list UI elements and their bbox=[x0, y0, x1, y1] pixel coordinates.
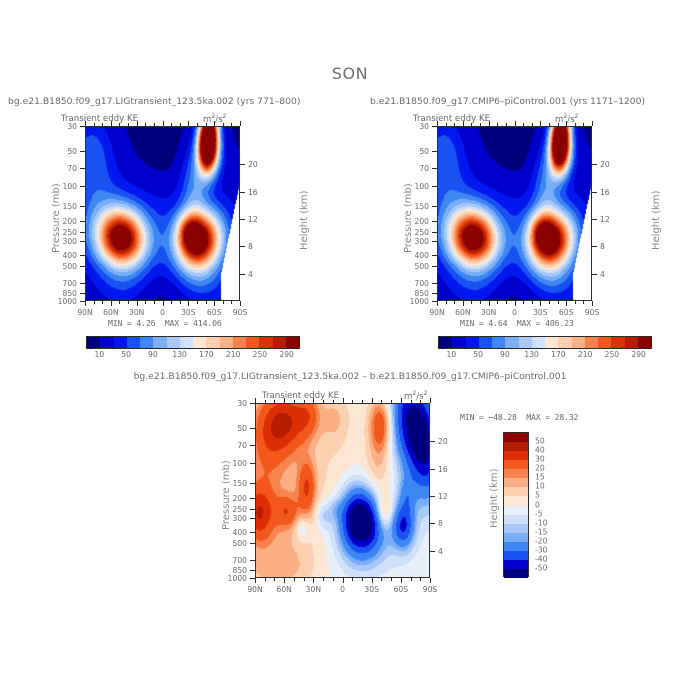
height-tick-label: 20 bbox=[600, 160, 610, 169]
pressure-tick-label: 70 bbox=[237, 441, 247, 450]
height-tick-label: 4 bbox=[600, 270, 605, 279]
left-min-value: 4.26 bbox=[136, 318, 155, 328]
latitude-minor-tick bbox=[532, 301, 533, 304]
diff-panel-y-axis-title: Pressure (mb) bbox=[221, 460, 232, 530]
height-tick-label: 4 bbox=[438, 547, 443, 556]
latitude-tick bbox=[111, 301, 112, 306]
height-tick-label: 16 bbox=[248, 188, 258, 197]
height-tick-label: 8 bbox=[248, 242, 253, 251]
colorbar-segment bbox=[246, 337, 259, 348]
right-panel-units: m2/s2 bbox=[555, 113, 578, 125]
colorbar-tick-label: 250 bbox=[253, 350, 268, 359]
colorbar-tick-label: 170 bbox=[551, 350, 566, 359]
latitude-tick-label: 0 bbox=[512, 308, 517, 317]
latitude-tick-label: 60S bbox=[394, 585, 408, 594]
pressure-tick bbox=[432, 301, 437, 302]
pressure-tick-label: 700 bbox=[415, 279, 430, 288]
right-max-label: MAX = bbox=[517, 318, 541, 328]
colorbar-segment bbox=[153, 337, 166, 348]
latitude-minor-tick bbox=[352, 578, 353, 581]
pressure-tick bbox=[250, 578, 255, 579]
latitude-tick-label: 90N bbox=[429, 308, 444, 317]
latitude-minor-tick bbox=[471, 301, 472, 304]
latitude-tick bbox=[137, 301, 138, 306]
colorbar-segment bbox=[598, 337, 611, 348]
colorbar-tick-label: -15 bbox=[535, 527, 547, 536]
right-panel-y-axis-title: Pressure (mb) bbox=[403, 183, 414, 253]
latitude-tick bbox=[313, 578, 314, 583]
diff-panel-case-title: bg.e21.B1850.f09_g17.LIGtransient_123.5k… bbox=[0, 371, 700, 382]
pressure-tick-label: 1000 bbox=[228, 574, 247, 583]
diff-panel-y2-axis-title: Height (km) bbox=[489, 468, 500, 528]
latitude-minor-tick bbox=[119, 301, 120, 304]
latitude-tick bbox=[284, 578, 285, 583]
pressure-tick-label: 150 bbox=[415, 202, 430, 211]
latitude-tick bbox=[592, 301, 593, 306]
units-denominator: /s bbox=[416, 392, 423, 402]
colorbar-segment bbox=[87, 337, 100, 348]
pressure-tick-label: 1000 bbox=[410, 297, 429, 306]
diff-panel-colorbar[interactable] bbox=[503, 432, 529, 577]
diff-min-value: −48.28 bbox=[488, 412, 516, 422]
pressure-tick-label: 400 bbox=[63, 251, 78, 260]
pressure-tick-label: 30 bbox=[237, 399, 247, 408]
colorbar-segment bbox=[504, 569, 528, 578]
height-tick-label: 12 bbox=[600, 215, 610, 224]
height-tick bbox=[430, 551, 435, 552]
pressure-tick-label: 50 bbox=[237, 424, 247, 433]
colorbar-segment bbox=[504, 542, 528, 551]
latitude-tick-label: 30N bbox=[306, 585, 321, 594]
latitude-minor-tick bbox=[145, 301, 146, 304]
colorbar-segment bbox=[233, 337, 246, 348]
latitude-tick bbox=[401, 578, 402, 583]
pressure-tick-label: 500 bbox=[63, 262, 78, 271]
latitude-minor-tick bbox=[454, 301, 455, 304]
colorbar-segment bbox=[504, 433, 528, 442]
colorbar-tick-label: 50 bbox=[121, 350, 131, 359]
height-tick-label: 8 bbox=[600, 242, 605, 251]
height-tick bbox=[240, 219, 245, 220]
right-min-label: MIN = bbox=[460, 318, 484, 328]
pressure-tick-label: 250 bbox=[63, 228, 78, 237]
colorbar-segment bbox=[504, 478, 528, 487]
season-title: SON bbox=[0, 64, 700, 83]
latitude-minor-tick bbox=[420, 578, 421, 581]
latitude-minor-tick bbox=[333, 578, 334, 581]
latitude-minor-tick bbox=[411, 578, 412, 581]
latitude-minor-tick bbox=[231, 301, 232, 304]
colorbar-tick-label: 40 bbox=[535, 446, 545, 455]
latitude-tick bbox=[430, 578, 431, 583]
right-panel-case-title: b.e21.B1850.f09_g17.CMIP6–piControl.001 … bbox=[370, 96, 645, 107]
latitude-tick-label: 90S bbox=[233, 308, 247, 317]
left-min-label: MIN = bbox=[108, 318, 132, 328]
pressure-tick-label: 1000 bbox=[58, 297, 77, 306]
colorbar-segment bbox=[127, 337, 140, 348]
latitude-tick bbox=[85, 301, 86, 306]
right-panel-colorbar[interactable] bbox=[438, 336, 652, 349]
colorbar-segment bbox=[558, 337, 571, 348]
latitude-tick-label: 60N bbox=[103, 308, 118, 317]
colorbar-segment bbox=[545, 337, 558, 348]
height-tick bbox=[592, 246, 597, 247]
colorbar-tick-label: 50 bbox=[473, 350, 483, 359]
right-panel-y2-axis-title: Height (km) bbox=[651, 190, 662, 250]
colorbar-segment bbox=[100, 337, 113, 348]
colorbar-segment bbox=[519, 337, 532, 348]
colorbar-segment bbox=[259, 337, 272, 348]
pressure-tick-label: 250 bbox=[415, 228, 430, 237]
colorbar-tick-label: 15 bbox=[535, 473, 545, 482]
latitude-minor-tick bbox=[206, 301, 207, 304]
latitude-minor-tick bbox=[575, 301, 576, 304]
pressure-tick-label: 700 bbox=[63, 279, 78, 288]
latitude-tick bbox=[343, 578, 344, 583]
colorbar-segment bbox=[504, 551, 528, 560]
colorbar-tick-label: 290 bbox=[631, 350, 646, 359]
latitude-minor-tick bbox=[506, 301, 507, 304]
pressure-tick-label: 30 bbox=[419, 122, 429, 131]
units-denominator: /s bbox=[215, 115, 222, 125]
pressure-tick-label: 100 bbox=[63, 182, 78, 191]
diff-panel-units: m2/s2 bbox=[404, 390, 427, 402]
pressure-tick-label: 70 bbox=[67, 164, 77, 173]
colorbar-segment bbox=[466, 337, 479, 348]
colorbar-segment bbox=[286, 337, 299, 348]
diff-panel-minmax: MIN = −48.28 MAX = 28.32 bbox=[460, 412, 578, 422]
latitude-tick bbox=[372, 578, 373, 583]
latitude-minor-tick bbox=[362, 578, 363, 581]
colorbar-tick-label: 90 bbox=[148, 350, 158, 359]
height-tick bbox=[240, 164, 245, 165]
units-denominator-exp: 2 bbox=[575, 113, 579, 120]
colorbar-segment bbox=[504, 560, 528, 569]
latitude-minor-tick bbox=[391, 578, 392, 581]
colorbar-segment bbox=[505, 337, 518, 348]
units-denominator-exp: 2 bbox=[223, 113, 227, 120]
colorbar-segment bbox=[180, 337, 193, 348]
latitude-tick bbox=[566, 301, 567, 306]
colorbar-segment bbox=[439, 337, 452, 348]
pressure-tick-label: 300 bbox=[233, 514, 248, 523]
height-tick bbox=[430, 523, 435, 524]
latitude-tick-label: 60S bbox=[559, 308, 573, 317]
colorbar-segment bbox=[504, 524, 528, 533]
latitude-tick-label: 30N bbox=[481, 308, 496, 317]
height-tick-label: 16 bbox=[438, 465, 448, 474]
pressure-tick-label: 200 bbox=[233, 494, 248, 503]
colorbar-segment bbox=[452, 337, 465, 348]
colorbar-tick-label: -20 bbox=[535, 536, 547, 545]
height-tick bbox=[430, 469, 435, 470]
height-tick-label: 16 bbox=[600, 188, 610, 197]
colorbar-tick-label: 10 bbox=[535, 482, 545, 491]
latitude-tick bbox=[240, 121, 241, 126]
right-panel-minmax: MIN = 4.64 MAX = 406.23 bbox=[460, 318, 574, 328]
latitude-tick bbox=[463, 301, 464, 306]
latitude-tick bbox=[592, 121, 593, 126]
latitude-minor-tick bbox=[94, 301, 95, 304]
pressure-tick-label: 500 bbox=[233, 539, 248, 548]
pressure-tick-label: 200 bbox=[415, 217, 430, 226]
colorbar-segment bbox=[193, 337, 206, 348]
colorbar-segment bbox=[504, 451, 528, 460]
colorbar-segment bbox=[611, 337, 624, 348]
latitude-minor-tick bbox=[549, 301, 550, 304]
left-panel-colorbar[interactable] bbox=[86, 336, 300, 349]
colorbar-tick-label: 10 bbox=[95, 350, 105, 359]
colorbar-tick-label: 5 bbox=[535, 491, 540, 500]
colorbar-segment bbox=[504, 487, 528, 496]
colorbar-tick-label: 290 bbox=[279, 350, 294, 359]
latitude-tick-label: 60N bbox=[276, 585, 291, 594]
latitude-minor-tick bbox=[480, 301, 481, 304]
height-tick bbox=[430, 496, 435, 497]
colorbar-segment bbox=[625, 337, 638, 348]
pressure-tick-label: 30 bbox=[67, 122, 77, 131]
latitude-minor-tick bbox=[265, 578, 266, 581]
latitude-tick bbox=[255, 578, 256, 583]
latitude-tick bbox=[540, 301, 541, 306]
latitude-minor-tick bbox=[294, 578, 295, 581]
latitude-tick bbox=[240, 301, 241, 306]
latitude-minor-tick bbox=[304, 578, 305, 581]
left-panel-units: m2/s2 bbox=[203, 113, 226, 125]
latitude-minor-tick bbox=[180, 301, 181, 304]
colorbar-segment bbox=[504, 515, 528, 524]
colorbar-tick-label: 130 bbox=[172, 350, 187, 359]
right-panel-contour-field bbox=[438, 127, 592, 301]
left-panel-colorbar-labels: 105090130170210250290 bbox=[86, 350, 300, 360]
latitude-minor-tick bbox=[497, 301, 498, 304]
colorbar-tick-label: -50 bbox=[535, 563, 547, 572]
colorbar-tick-label: -5 bbox=[535, 509, 543, 518]
pressure-tick-label: 100 bbox=[415, 182, 430, 191]
pressure-tick-label: 150 bbox=[233, 479, 248, 488]
pressure-tick-label: 50 bbox=[419, 147, 429, 156]
colorbar-segment bbox=[532, 337, 545, 348]
latitude-tick-label: 30S bbox=[533, 308, 547, 317]
pressure-tick-label: 300 bbox=[63, 237, 78, 246]
height-tick-label: 12 bbox=[438, 492, 448, 501]
colorbar-tick-label: 130 bbox=[524, 350, 539, 359]
latitude-tick-label: 30S bbox=[181, 308, 195, 317]
right-max-value: 406.23 bbox=[545, 318, 573, 328]
left-max-label: MAX = bbox=[165, 318, 189, 328]
latitude-tick bbox=[214, 301, 215, 306]
diff-panel-plot[interactable] bbox=[255, 403, 430, 578]
left-panel-plot[interactable] bbox=[85, 126, 240, 301]
right-panel-plot[interactable] bbox=[437, 126, 592, 301]
diff-panel-contour-field bbox=[256, 404, 430, 578]
colorbar-segment bbox=[504, 460, 528, 469]
latitude-tick-label: 60N bbox=[455, 308, 470, 317]
diff-min-label: MIN = bbox=[460, 412, 484, 422]
colorbar-tick-label: 50 bbox=[535, 437, 545, 446]
colorbar-tick-label: 10 bbox=[447, 350, 457, 359]
colorbar-segment bbox=[167, 337, 180, 348]
latitude-minor-tick bbox=[323, 578, 324, 581]
colorbar-segment bbox=[504, 496, 528, 505]
latitude-minor-tick bbox=[446, 301, 447, 304]
pressure-tick-label: 150 bbox=[63, 202, 78, 211]
height-tick bbox=[430, 441, 435, 442]
pressure-tick-label: 300 bbox=[415, 237, 430, 246]
right-panel-colorbar-labels: 105090130170210250290 bbox=[438, 350, 652, 360]
latitude-tick bbox=[515, 301, 516, 306]
pressure-tick-label: 100 bbox=[233, 459, 248, 468]
latitude-minor-tick bbox=[583, 301, 584, 304]
latitude-minor-tick bbox=[274, 578, 275, 581]
latitude-minor-tick bbox=[154, 301, 155, 304]
left-max-value: 414.06 bbox=[193, 318, 221, 328]
colorbar-tick-label: -10 bbox=[535, 518, 547, 527]
height-tick bbox=[592, 164, 597, 165]
pressure-tick bbox=[80, 301, 85, 302]
latitude-minor-tick bbox=[128, 301, 129, 304]
pressure-tick-label: 400 bbox=[233, 528, 248, 537]
colorbar-tick-label: 250 bbox=[605, 350, 620, 359]
latitude-tick-label: 90S bbox=[423, 585, 437, 594]
colorbar-segment bbox=[273, 337, 286, 348]
latitude-minor-tick bbox=[102, 301, 103, 304]
latitude-tick bbox=[163, 301, 164, 306]
left-panel-contour-field bbox=[86, 127, 240, 301]
latitude-minor-tick bbox=[523, 301, 524, 304]
latitude-tick-label: 90N bbox=[77, 308, 92, 317]
colorbar-segment bbox=[492, 337, 505, 348]
colorbar-tick-label: -30 bbox=[535, 545, 547, 554]
height-tick bbox=[592, 219, 597, 220]
colorbar-segment bbox=[504, 506, 528, 515]
height-tick-label: 4 bbox=[248, 270, 253, 279]
latitude-tick-label: 30N bbox=[129, 308, 144, 317]
diff-panel-variable-name: Transient eddy KE bbox=[262, 391, 339, 401]
pressure-tick-label: 500 bbox=[415, 262, 430, 271]
latitude-tick-label: 30S bbox=[364, 585, 378, 594]
colorbar-segment bbox=[206, 337, 219, 348]
latitude-tick bbox=[430, 398, 431, 403]
colorbar-tick-label: 210 bbox=[226, 350, 241, 359]
diff-max-label: MAX = bbox=[526, 412, 550, 422]
left-panel-minmax: MIN = 4.26 MAX = 414.06 bbox=[108, 318, 222, 328]
pressure-tick-label: 400 bbox=[415, 251, 430, 260]
latitude-tick bbox=[437, 301, 438, 306]
latitude-minor-tick bbox=[197, 301, 198, 304]
height-tick bbox=[592, 192, 597, 193]
pressure-tick-label: 200 bbox=[63, 217, 78, 226]
latitude-tick-label: 60S bbox=[207, 308, 221, 317]
height-tick-label: 12 bbox=[248, 215, 258, 224]
latitude-tick-label: 90N bbox=[247, 585, 262, 594]
colorbar-segment bbox=[504, 469, 528, 478]
colorbar-tick-label: 90 bbox=[500, 350, 510, 359]
colorbar-tick-label: 170 bbox=[199, 350, 214, 359]
right-min-value: 4.64 bbox=[488, 318, 507, 328]
colorbar-segment bbox=[504, 442, 528, 451]
height-tick bbox=[592, 274, 597, 275]
left-panel-case-title: bg.e21.B1850.f09_g17.LIGtransient_123.5k… bbox=[8, 96, 300, 107]
latitude-minor-tick bbox=[381, 578, 382, 581]
latitude-tick-label: 90S bbox=[585, 308, 599, 317]
height-tick bbox=[240, 246, 245, 247]
pressure-tick-label: 250 bbox=[233, 505, 248, 514]
colorbar-segment bbox=[638, 337, 651, 348]
pressure-tick-label: 50 bbox=[67, 147, 77, 156]
latitude-tick-label: 0 bbox=[160, 308, 165, 317]
units-denominator-exp: 2 bbox=[424, 390, 428, 397]
colorbar-tick-label: -40 bbox=[535, 554, 547, 563]
latitude-minor-tick bbox=[223, 301, 224, 304]
colorbar-tick-label: 0 bbox=[535, 500, 540, 509]
colorbar-segment bbox=[504, 533, 528, 542]
latitude-minor-tick bbox=[558, 301, 559, 304]
colorbar-tick-label: 20 bbox=[535, 464, 545, 473]
latitude-minor-tick bbox=[171, 301, 172, 304]
pressure-tick-label: 70 bbox=[419, 164, 429, 173]
units-denominator: /s bbox=[567, 115, 574, 125]
colorbar-tick-label: 30 bbox=[535, 455, 545, 464]
colorbar-segment bbox=[572, 337, 585, 348]
pressure-tick-label: 700 bbox=[233, 556, 248, 565]
latitude-tick bbox=[188, 301, 189, 306]
height-tick-label: 20 bbox=[438, 437, 448, 446]
colorbar-segment bbox=[585, 337, 598, 348]
colorbar-segment bbox=[220, 337, 233, 348]
colorbar-tick-label: 210 bbox=[578, 350, 593, 359]
diff-max-value: 28.32 bbox=[555, 412, 579, 422]
left-panel-y-axis-title: Pressure (mb) bbox=[51, 183, 62, 253]
colorbar-segment bbox=[114, 337, 127, 348]
height-tick bbox=[240, 274, 245, 275]
height-tick-label: 8 bbox=[438, 519, 443, 528]
latitude-tick-label: 0 bbox=[340, 585, 345, 594]
height-tick bbox=[240, 192, 245, 193]
height-tick-label: 20 bbox=[248, 160, 258, 169]
left-panel-y2-axis-title: Height (km) bbox=[299, 190, 310, 250]
colorbar-segment bbox=[479, 337, 492, 348]
colorbar-segment bbox=[140, 337, 153, 348]
latitude-tick bbox=[489, 301, 490, 306]
